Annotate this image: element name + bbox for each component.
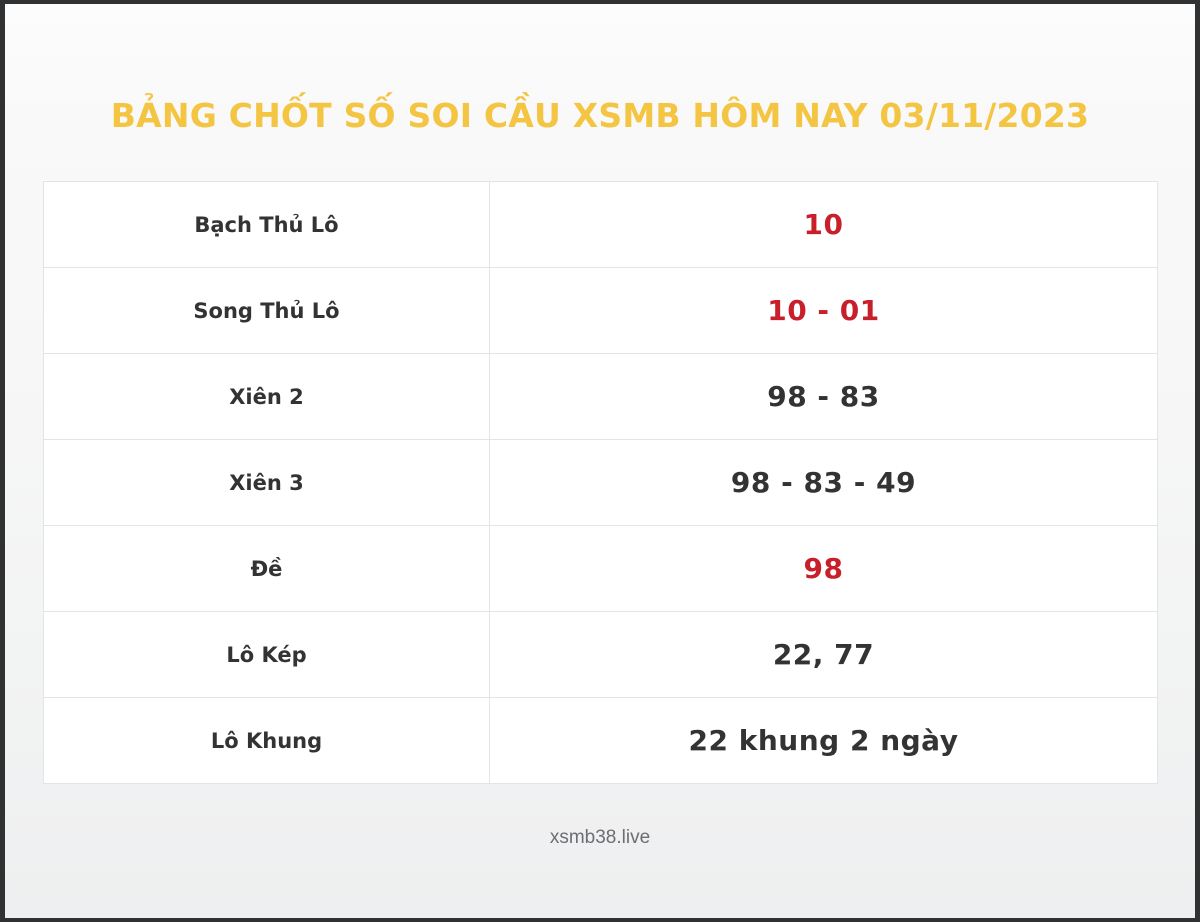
table-row: Xiên 3 98 - 83 - 49 bbox=[44, 440, 1158, 526]
table-row: Bạch Thủ Lô 10 bbox=[44, 182, 1158, 268]
row-value: 98 - 83 bbox=[490, 354, 1158, 440]
row-value: 10 bbox=[490, 182, 1158, 268]
row-value: 22, 77 bbox=[490, 612, 1158, 698]
row-label: Xiên 2 bbox=[44, 354, 490, 440]
row-value: 10 - 01 bbox=[490, 268, 1158, 354]
row-label: Đề bbox=[44, 526, 490, 612]
table-body: Bạch Thủ Lô 10 Song Thủ Lô 10 - 01 Xiên … bbox=[44, 182, 1158, 784]
table-row: Song Thủ Lô 10 - 01 bbox=[44, 268, 1158, 354]
soi-cau-table: Bạch Thủ Lô 10 Song Thủ Lô 10 - 01 Xiên … bbox=[43, 181, 1158, 784]
table-row: Lô Khung 22 khung 2 ngày bbox=[44, 698, 1158, 784]
row-label: Xiên 3 bbox=[44, 440, 490, 526]
row-label: Lô Khung bbox=[44, 698, 490, 784]
page-canvas: BẢNG CHỐT SỐ SOI CẦU XSMB HÔM NAY 03/11/… bbox=[5, 4, 1195, 918]
row-label: Bạch Thủ Lô bbox=[44, 182, 490, 268]
row-label: Song Thủ Lô bbox=[44, 268, 490, 354]
row-label: Lô Kép bbox=[44, 612, 490, 698]
row-value: 98 bbox=[490, 526, 1158, 612]
table-row: Xiên 2 98 - 83 bbox=[44, 354, 1158, 440]
table-row: Đề 98 bbox=[44, 526, 1158, 612]
table-row: Lô Kép 22, 77 bbox=[44, 612, 1158, 698]
site-watermark: xsmb38.live bbox=[5, 827, 1195, 849]
row-value: 98 - 83 - 49 bbox=[490, 440, 1158, 526]
row-value: 22 khung 2 ngày bbox=[490, 698, 1158, 784]
image-frame: BẢNG CHỐT SỐ SOI CẦU XSMB HÔM NAY 03/11/… bbox=[0, 0, 1200, 922]
page-title: BẢNG CHỐT SỐ SOI CẦU XSMB HÔM NAY 03/11/… bbox=[5, 96, 1195, 135]
